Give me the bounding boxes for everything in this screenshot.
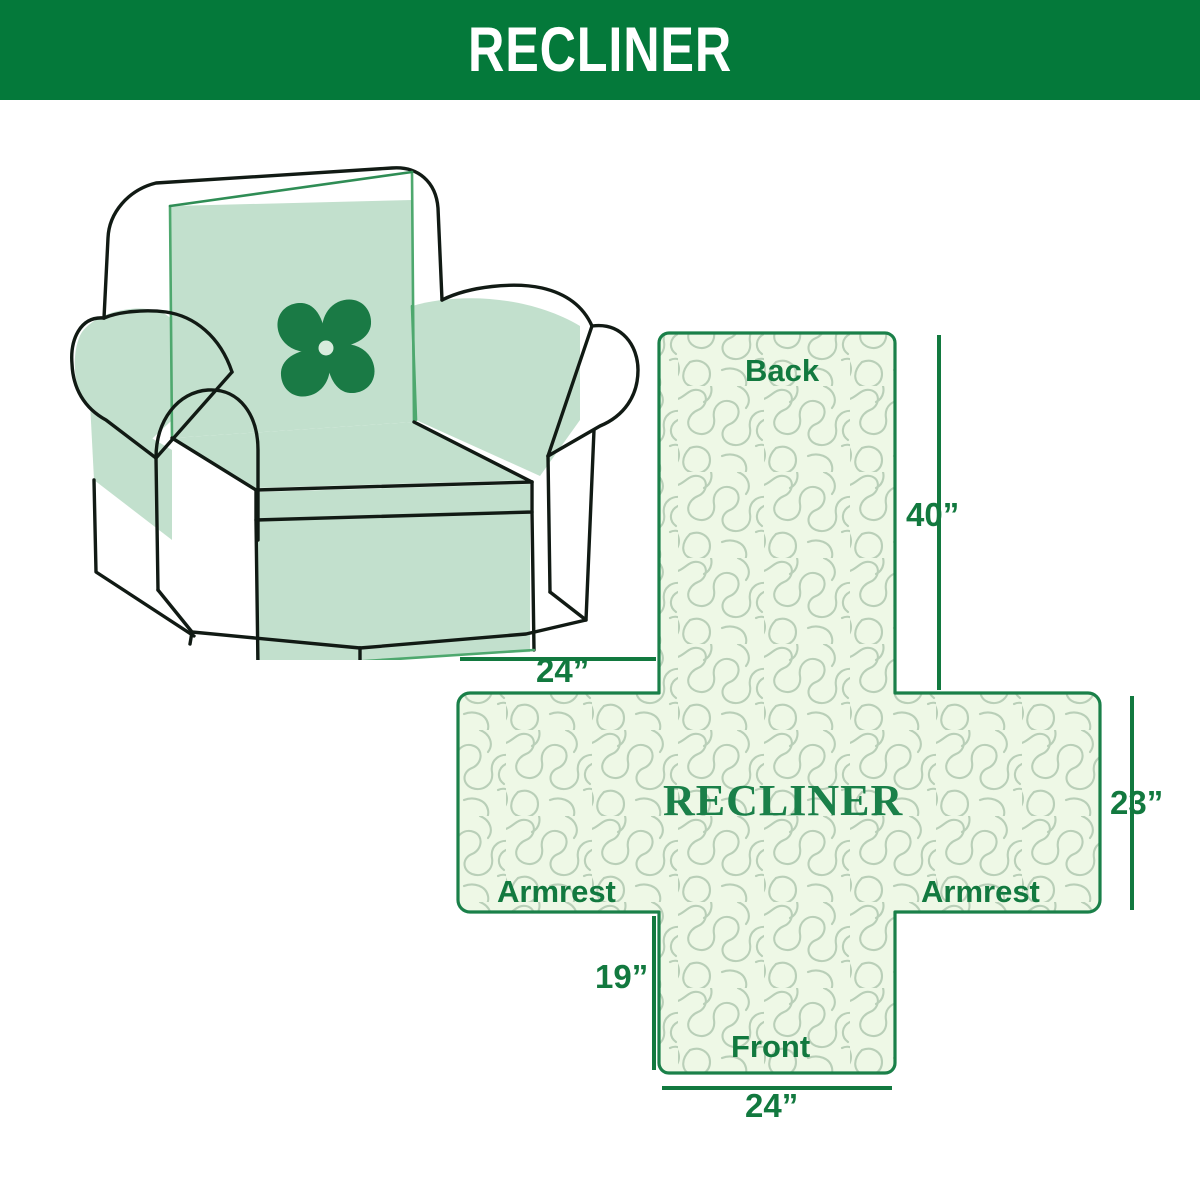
page-title: RECLINER [468,19,732,82]
dimension-label-back-height: 40” [906,498,959,531]
product-dimension-infographic: RECLINER [0,0,1200,1200]
panel-label-front: Front [731,1031,810,1062]
panel-label-back: Back [745,355,819,386]
chair-foot-left [190,632,192,644]
panel-label-armrest-right: Armrest [921,876,1040,907]
cover-cross-shape [458,333,1100,1073]
header-banner: RECLINER [0,0,1200,100]
dimension-label-center-height: 23” [1110,786,1163,819]
dimension-label-front-width: 24” [745,1089,798,1122]
slipcover-flat-diagram-svg [420,300,1200,1130]
dimension-label-armrest-width: 24” [536,654,589,687]
chair-left-arm-scroll-side [156,458,158,590]
panel-label-center: RECLINER [663,779,903,823]
dimension-label-front-height: 19” [595,960,648,993]
cover-outline [458,333,1100,1073]
slipcover-flat-diagram [420,300,1200,1130]
panel-label-armrest-left: Armrest [497,876,616,907]
pinwheel-fan-icon [277,299,374,396]
